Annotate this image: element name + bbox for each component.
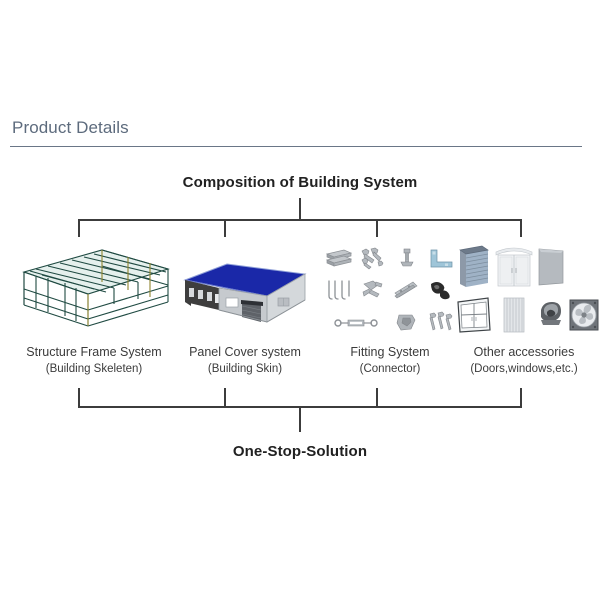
steel-plate-stack-icon — [324, 246, 354, 272]
connector-top-stem — [299, 198, 301, 220]
page-title: Product Details — [12, 118, 129, 138]
connector-bottom-rise-1 — [78, 388, 80, 407]
bolts-cluster-icon — [358, 246, 388, 272]
item-label: Panel Cover system — [178, 344, 312, 361]
item-sublabel: (Connector) — [322, 361, 458, 378]
header-divider — [10, 146, 582, 147]
dark-hook-fitting-icon — [426, 278, 456, 304]
item-figure — [456, 238, 592, 338]
connector-top-drop-3 — [376, 219, 378, 237]
connector-bottom-stem — [299, 406, 301, 432]
clevis-clamp-icon — [358, 278, 388, 304]
connector-top-drop-4 — [520, 219, 522, 237]
panel-building-icon — [179, 252, 311, 332]
exhaust-fan-icon — [568, 298, 600, 332]
item-figure — [322, 238, 458, 338]
self-drilling-screws-icon — [426, 311, 456, 335]
connector-top-drop-1 — [78, 219, 80, 237]
item-label: Other accessories — [456, 344, 592, 361]
item-figure — [8, 238, 180, 338]
item-sublabel: (Building Skeleten) — [8, 361, 180, 378]
item-label: Fitting System — [322, 344, 458, 361]
item-figure — [178, 238, 312, 338]
accessories-grid — [456, 242, 592, 337]
sliding-door-icon — [494, 244, 534, 288]
diagram-item-panel-cover: Panel Cover system (Building Skin) — [178, 238, 312, 378]
diagram-item-other-accessories: Other accessories (Doors,windows,etc.) — [456, 238, 592, 378]
building-system-diagram: Composition of Building System — [0, 160, 600, 480]
steel-frame-wireframe-icon — [10, 242, 178, 334]
roller-shutter-door-icon — [458, 244, 490, 288]
item-sublabel: (Building Skin) — [178, 361, 312, 378]
connector-top-drop-2 — [224, 219, 226, 237]
turnbuckle-icon — [333, 311, 379, 335]
product-details-page: Product Details Composition of Building … — [0, 0, 600, 600]
anchor-stud-icon — [392, 246, 422, 272]
angle-bracket-icon — [426, 246, 456, 272]
beam-clamp-icon — [392, 311, 422, 335]
diagram-title: Composition of Building System — [0, 174, 600, 191]
item-sublabel: (Doors,windows,etc.) — [456, 361, 592, 378]
roof-ventilator-icon — [536, 298, 566, 332]
connector-top-bar — [78, 219, 522, 221]
diagram-item-structure-frame: Structure Frame System (Building Skelete… — [8, 238, 180, 378]
connector-bottom-rise-2 — [224, 388, 226, 407]
window-frame-icon — [456, 296, 492, 334]
connector-bottom-rise-3 — [376, 388, 378, 407]
tie-rods-icon — [324, 278, 354, 304]
section-header: Product Details — [0, 118, 600, 154]
wall-panel-icon — [536, 245, 566, 287]
corrugated-sheet-icon — [500, 295, 528, 335]
connector-bottom-rise-4 — [520, 388, 522, 407]
fittings-grid — [322, 244, 458, 338]
diagram-item-fitting-system: Fitting System (Connector) — [322, 238, 458, 378]
diagram-footer: One-Stop-Solution — [0, 443, 600, 460]
splice-bar-icon — [392, 278, 422, 304]
item-label: Structure Frame System — [8, 344, 180, 361]
